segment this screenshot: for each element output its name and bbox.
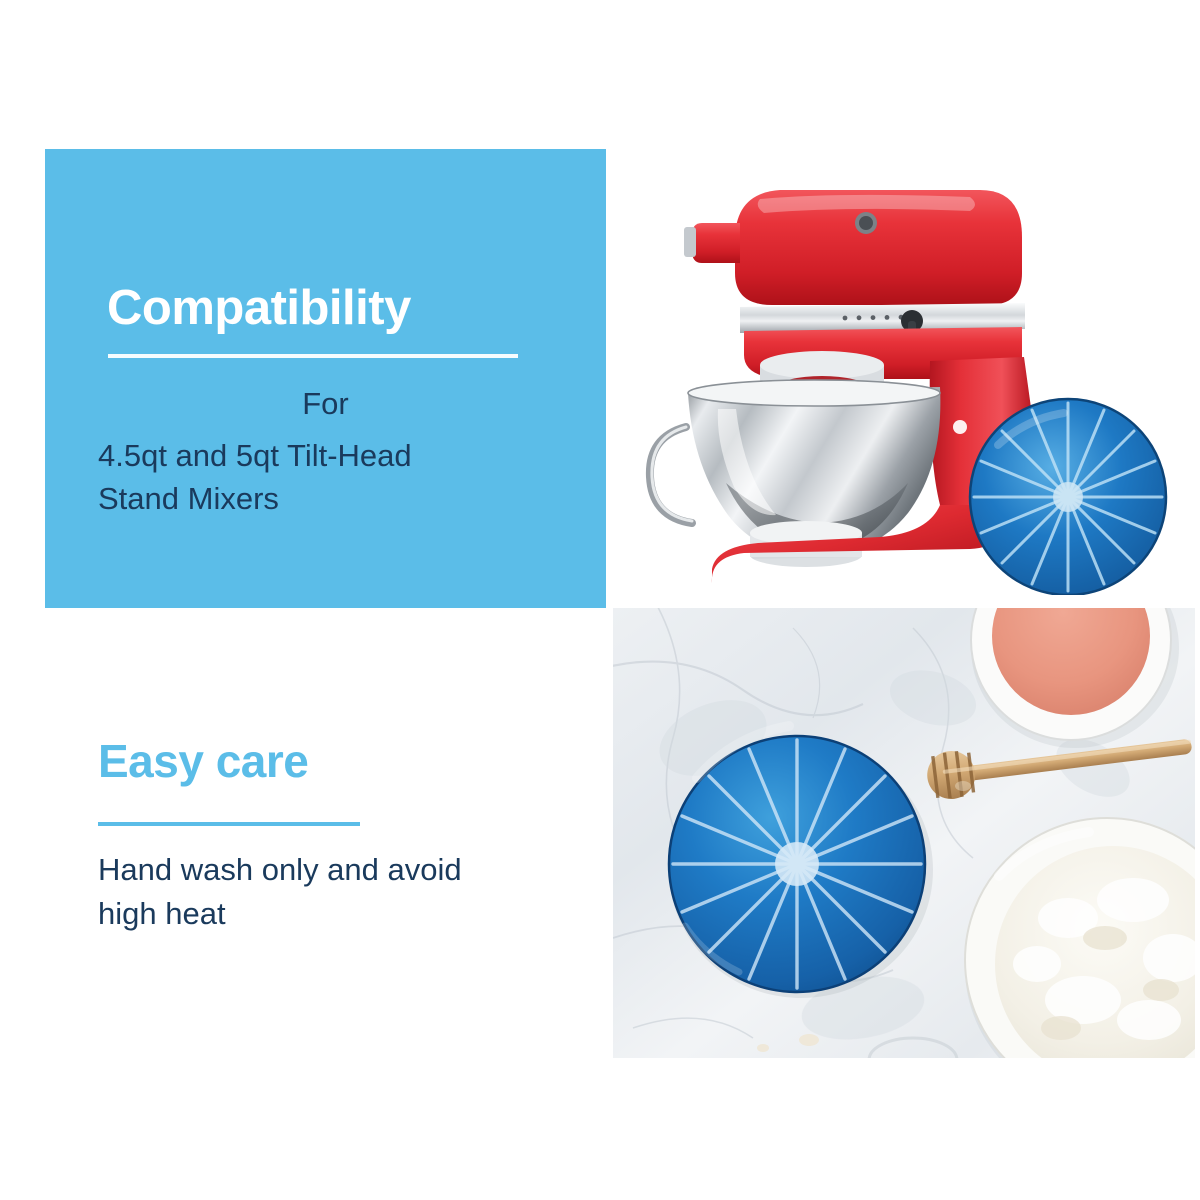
easy-care-divider [98,822,360,826]
compatibility-divider [108,354,518,358]
compatibility-intro: For [45,385,606,424]
splash-guard-center [1053,482,1083,512]
bowl-cover-center [775,842,819,886]
compatibility-panel: Compatibility For 4.5qt and 5qt Tilt-Hea… [45,149,606,608]
bowl-handle [650,427,692,523]
easy-care-body-line-1: Hand wash only and avoid [98,848,568,892]
easy-care-heading: Easy care [98,738,308,784]
easy-care-body-line-2: high heat [98,892,568,936]
column-indicator-dot [953,420,967,434]
compatibility-heading: Compatibility [107,284,411,333]
stand-mixer-illustration [640,165,1185,595]
splash-guard-disc [970,399,1166,595]
stand-mixer-hero-image [640,165,1185,595]
compatibility-body: 4.5qt and 5qt Tilt-Head Stand Mixers [98,435,598,521]
compatibility-body-line-2: Stand Mixers [98,478,598,521]
infographic-canvas: Compatibility For 4.5qt and 5qt Tilt-Hea… [0,0,1200,1200]
compatibility-body-line-1: 4.5qt and 5qt Tilt-Head [98,435,598,478]
mixer-motor-head [684,190,1022,305]
lifestyle-photo [613,608,1195,1058]
lifestyle-scene-illustration [613,608,1195,1058]
easy-care-body: Hand wash only and avoid high heat [98,848,568,936]
